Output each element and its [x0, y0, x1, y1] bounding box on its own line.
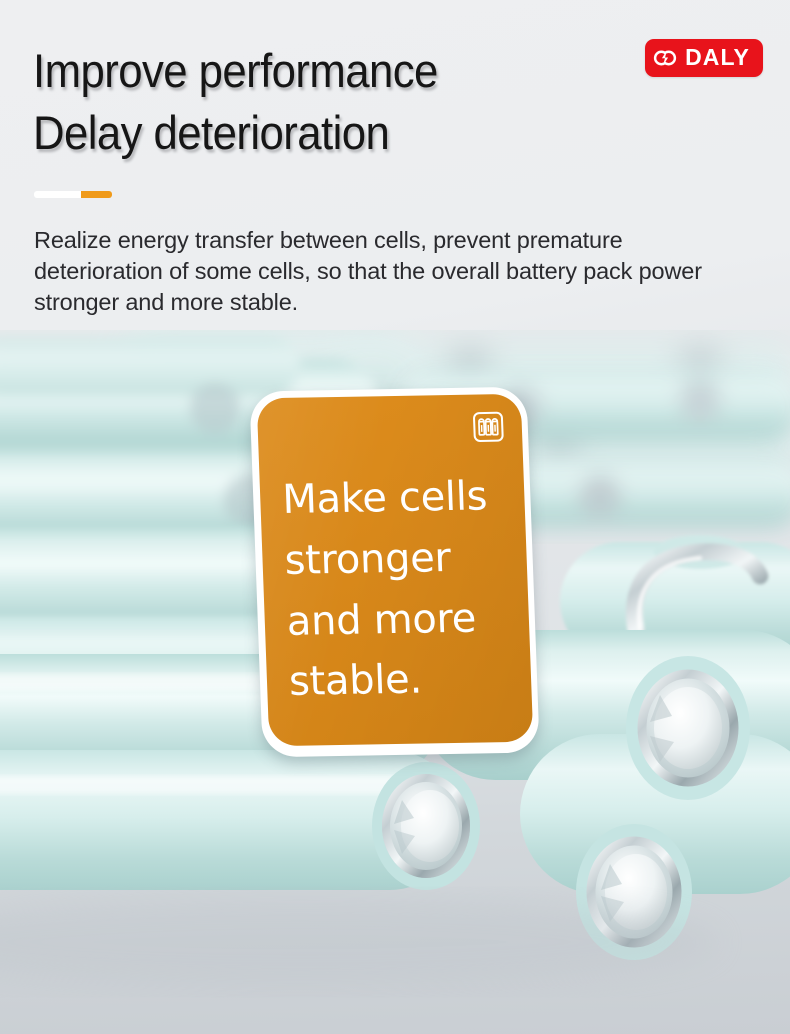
page-title: Improve performance Delay deterioration	[33, 40, 610, 164]
headline-line-2: Delay deterioration	[33, 102, 610, 164]
lightning-bolt-circles-icon	[652, 45, 678, 71]
brand-name: DALY	[685, 46, 750, 71]
battery-terminal-middle	[372, 762, 480, 890]
accent-divider	[34, 191, 112, 198]
divider-segment-white	[34, 191, 81, 198]
intro-paragraph: Realize energy transfer between cells, p…	[34, 225, 756, 318]
brand-logo: DALY	[645, 39, 763, 77]
battery-terminal-right-top	[626, 656, 750, 800]
divider-segment-orange	[81, 191, 112, 198]
battery-cells-box-icon	[472, 411, 504, 443]
callout-card: Make cells stronger and more stable.	[257, 394, 534, 746]
headline-line-1: Improve performance	[33, 44, 438, 97]
poster-stage: Improve performance Delay deterioration …	[0, 0, 790, 1034]
callout-card-text: Make cells stronger and more stable.	[281, 466, 518, 713]
